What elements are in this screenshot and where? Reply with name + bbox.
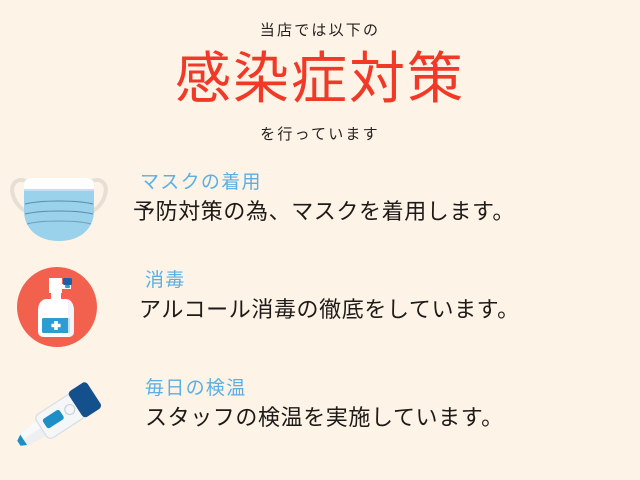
temperature-text-slot: 毎日の検温 スタッフの検温を実施しています。 — [145, 374, 504, 431]
header-eyebrow-text: 当店では以下の — [0, 22, 640, 40]
item-title-mask: マスクの着用 — [140, 172, 515, 194]
sanitize-text-slot: 消毒 アルコール消毒の徹底をしています。 — [145, 266, 520, 323]
list-item-temperature: 毎日の検温 スタッフの検温を実施しています。 — [0, 374, 640, 466]
mask-icon-slot — [0, 168, 112, 260]
page-title: 感染症対策 — [0, 50, 640, 109]
item-description-sanitize: アルコール消毒の徹底をしています。 — [139, 297, 520, 323]
thermometer-icon-slot — [0, 374, 112, 466]
digital-thermometer-icon — [6, 376, 110, 462]
mask-text-slot: マスクの着用 予防対策の為、マスクを着用します。 — [140, 168, 515, 225]
poster-header: 当店では以下の 感染症対策 を行っています — [0, 0, 640, 144]
measures-list: マスクの着用 予防対策の為、マスクを着用します。 — [0, 168, 640, 444]
surgical-mask-icon — [8, 173, 110, 245]
item-description-mask: 予防対策の為、マスクを着用します。 — [133, 199, 515, 225]
item-title-sanitize: 消毒 — [145, 270, 520, 292]
list-item-mask: マスクの着用 予防対策の為、マスクを着用します。 — [0, 168, 640, 260]
spray-bottle-icon — [16, 266, 98, 348]
item-description-temperature: スタッフの検温を実施しています。 — [145, 405, 504, 431]
header-sub-eyebrow-text: を行っています — [0, 123, 640, 144]
infection-prevention-poster: 当店では以下の 感染症対策 を行っています — [0, 0, 640, 480]
item-title-temperature: 毎日の検温 — [145, 378, 504, 400]
spray-icon-slot — [0, 266, 112, 358]
list-item-sanitize: 消毒 アルコール消毒の徹底をしています。 — [0, 266, 640, 358]
